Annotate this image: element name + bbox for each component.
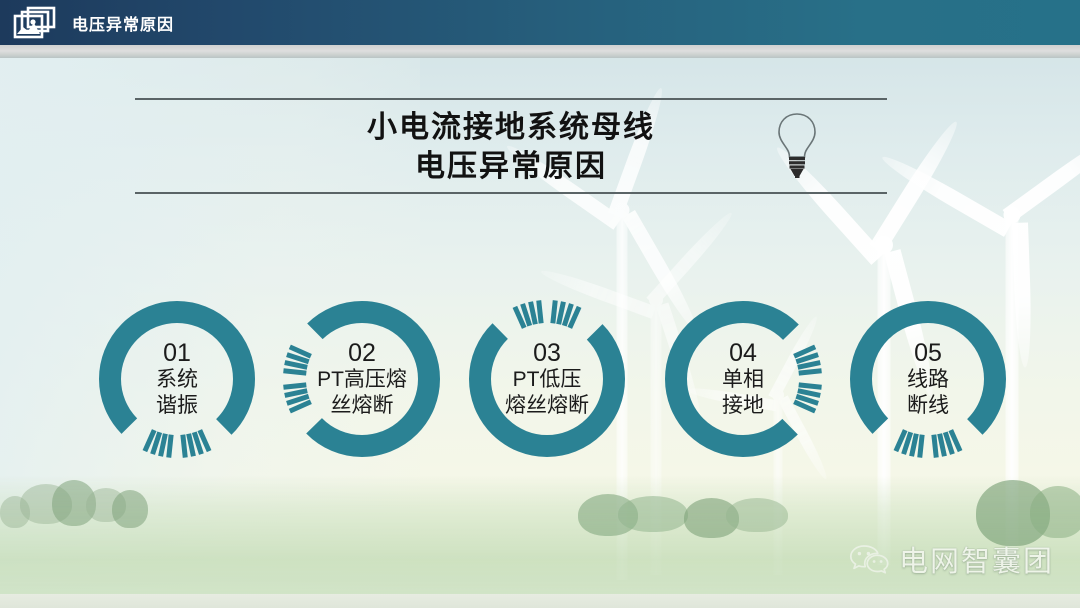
tree-icon [618, 496, 688, 532]
wechat-icon [849, 544, 889, 574]
header-title: 电压异常原因 [72, 11, 174, 35]
circle-list: 01 系统 谐振 [0, 286, 1080, 476]
ring-05-icon [843, 294, 1013, 464]
ring-02-icon [277, 294, 447, 464]
title-rule-bottom [135, 192, 887, 194]
ring-03-icon [462, 294, 632, 464]
circle-item-01[interactable]: 01 系统 谐振 [92, 294, 262, 464]
lightbulb-icon [775, 111, 819, 181]
page-title: 小电流接地系统母线 电压异常原因 [367, 108, 655, 186]
circle-item-05[interactable]: 05 线路 断线 [843, 294, 1013, 464]
circle-item-02[interactable]: 02 PT高压熔 丝熔断 [277, 294, 447, 464]
circle-item-03[interactable]: 03 PT低压 熔丝熔断 [462, 294, 632, 464]
images-stack-icon [12, 6, 58, 40]
tree-icon [1030, 486, 1080, 538]
tree-icon [726, 498, 788, 532]
tree-icon [112, 490, 148, 528]
ring-04-icon [658, 294, 828, 464]
slide-canvas: 电压异常原因 小电流接地系统母线 电压异常原因 [0, 0, 1080, 608]
watermark: 电网智囊团 [849, 538, 1054, 580]
title-block: 小电流接地系统母线 电压异常原因 [135, 98, 887, 194]
watermark-text: 电网智囊团 [899, 538, 1054, 580]
ring-01-icon [92, 294, 262, 464]
background-bottom-strip [0, 594, 1080, 608]
slide-header: 电压异常原因 [0, 0, 1080, 45]
circle-item-04[interactable]: 04 单相 接地 [658, 294, 828, 464]
tree-icon [0, 496, 30, 528]
header-separator [0, 45, 1080, 58]
